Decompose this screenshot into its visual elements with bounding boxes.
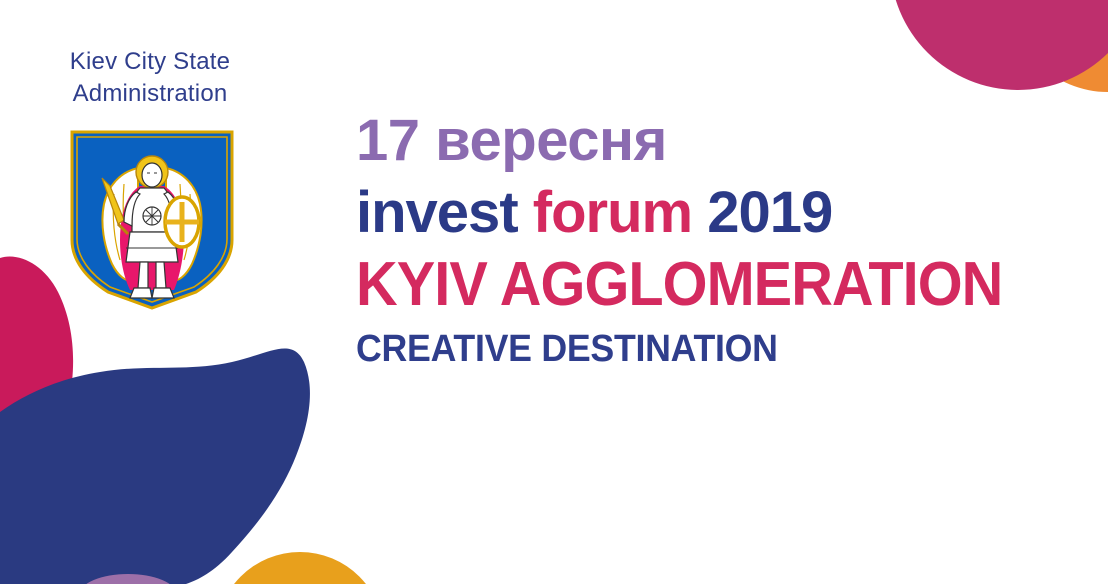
organization-block: Kiev City State Administration [0, 46, 300, 110]
forum-word-forum: forum [533, 180, 692, 245]
organization-name: Kiev City State Administration [0, 46, 300, 110]
event-subtitle: CREATIVE DESTINATION [356, 330, 1055, 368]
poster-canvas: Kiev City State Administration [0, 0, 1108, 584]
forum-year: 2019 [707, 180, 832, 245]
headline-block: 17 вересня invest forum 2019 KYIV AGGLOM… [356, 112, 1100, 368]
angel-head [142, 163, 162, 187]
event-title: KYIV AGGLOMERATION [356, 254, 1048, 316]
event-date: 17 вересня [356, 112, 1100, 170]
kyiv-coat-of-arms-icon [68, 128, 236, 312]
angel-small-shield [165, 197, 199, 247]
forum-name-line: invest forum 2019 [356, 184, 1100, 242]
content-layer: Kiev City State Administration [0, 0, 1108, 584]
forum-word-invest: invest [356, 180, 518, 245]
